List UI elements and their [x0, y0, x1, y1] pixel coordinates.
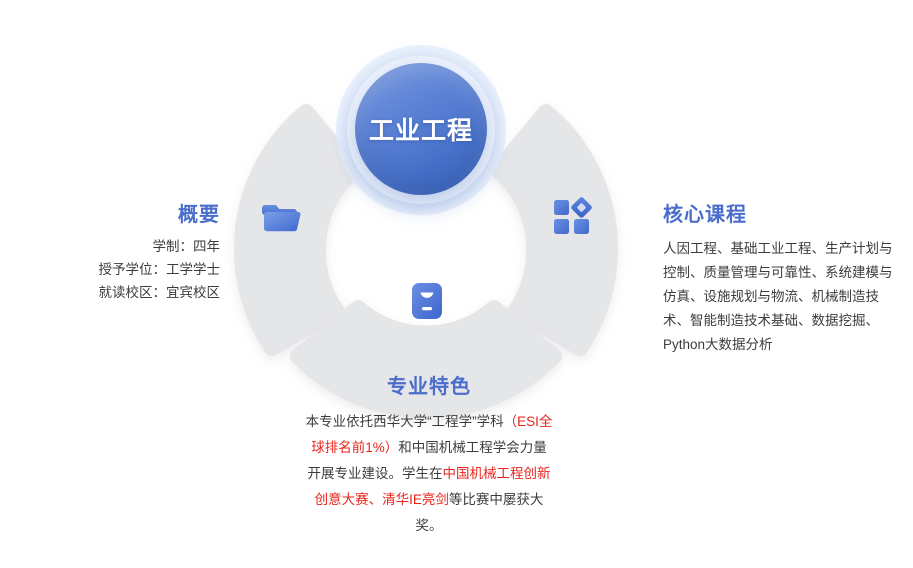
courses-heading: 核心课程: [663, 198, 893, 227]
overview-line-3: 就读校区：宜宾校区: [20, 281, 220, 304]
overview-block: 概要 学制：四年 授予学位：工学学士 就读校区：宜宾校区: [20, 198, 220, 304]
overview-line-2: 授予学位：工学学士: [20, 258, 220, 281]
courses-body: 人因工程、基础工业工程、生产计划与控制、质量管理与可靠性、系统建模与仿真、设施规…: [663, 237, 893, 357]
badge-smile-icon[interactable]: [403, 277, 451, 325]
courses-block: 核心课程 人因工程、基础工业工程、生产计划与控制、质量管理与可靠性、系统建模与仿…: [663, 198, 893, 357]
overview-line-1: 学制：四年: [20, 235, 220, 258]
features-heading: 专业特色: [305, 370, 553, 399]
infographic-canvas: 工业工程: [0, 0, 913, 568]
grid-blocks-icon[interactable]: [548, 193, 596, 241]
features-block: 专业特色 本专业依托西华大学“工程学”学科（ESI全球排名前1%）和中国机械工程…: [305, 370, 553, 539]
center-circle[interactable]: 工业工程: [355, 63, 487, 195]
folder-icon[interactable]: [258, 193, 306, 241]
features-part-1: 本专业依托西华大学“工程学”学科: [306, 414, 504, 429]
overview-heading: 概要: [20, 198, 220, 227]
features-body: 本专业依托西华大学“工程学”学科（ESI全球排名前1%）和中国机械工程学会力量开…: [305, 409, 553, 539]
center-title: 工业工程: [369, 111, 473, 147]
